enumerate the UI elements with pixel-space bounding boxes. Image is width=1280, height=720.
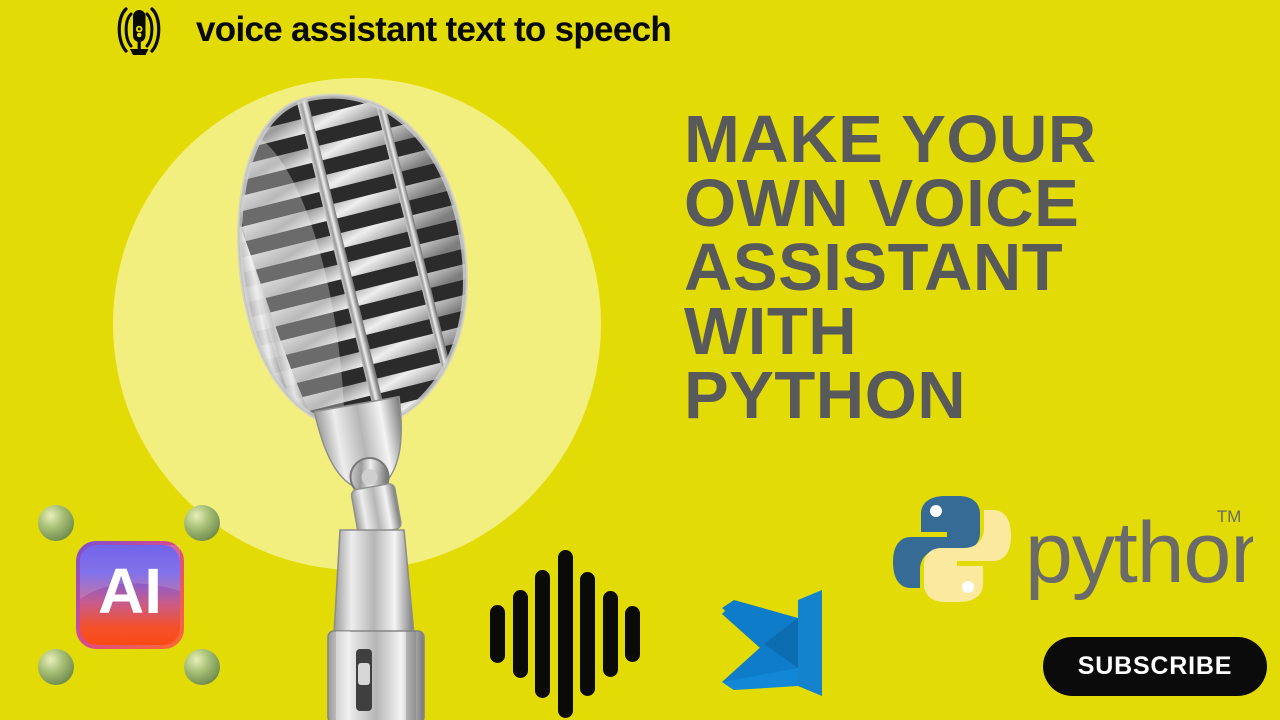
main-title: MAKE YOUR OWN VOICE ASSISTANT WITH PYTHO… <box>684 108 1097 428</box>
ai-badge-label: AI <box>98 555 162 627</box>
header-title: voice assistant text to speech <box>196 8 671 52</box>
header-bar: voice assistant text to speech <box>0 0 1280 62</box>
python-logo: python TM <box>893 490 1253 608</box>
python-trademark: TM <box>1217 507 1242 526</box>
waveform-bar <box>535 570 550 698</box>
waveform-bar <box>625 606 640 662</box>
ai-badge-icon: AI <box>30 495 230 700</box>
podcast-microphone-icon <box>110 3 168 59</box>
title-line-1: MAKE YOUR <box>684 108 1097 172</box>
subscribe-button[interactable]: SUBSCRIBE <box>1043 637 1267 696</box>
waveform-bar <box>490 605 505 663</box>
waveform-bar <box>603 591 618 677</box>
visual-studio-code-logo-icon <box>712 588 828 700</box>
waveform-bar <box>513 590 528 678</box>
title-line-4: WITH <box>684 300 1097 364</box>
audio-waveform-icon <box>490 548 640 720</box>
waveform-bar <box>558 550 573 718</box>
waveform-bar <box>580 572 595 696</box>
youtube-thumbnail: voice assistant text to speech <box>0 0 1280 720</box>
title-line-5: PYTHON <box>684 364 1097 428</box>
title-line-2: OWN VOICE <box>684 172 1097 236</box>
title-line-3: ASSISTANT <box>684 236 1097 300</box>
